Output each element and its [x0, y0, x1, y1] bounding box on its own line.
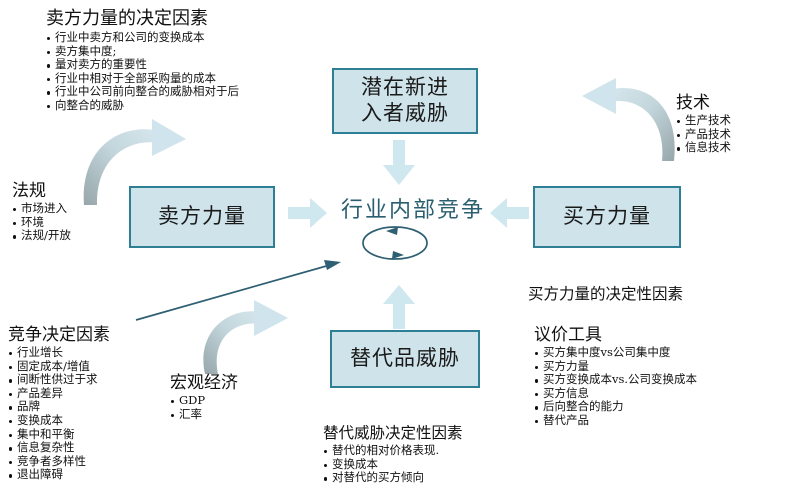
arrow-down-icon [382, 140, 416, 186]
box-threat-of-new-entrants[interactable]: 潜在新进 入者威胁 [332, 68, 478, 134]
list-item: 替代产品 [534, 414, 697, 428]
box-buyer-power-label: 买方力量 [563, 204, 651, 230]
technology-block: 技术 生产技术 产品技术 信息技术 [676, 88, 731, 155]
arrow-up-icon [382, 285, 416, 329]
list-item: 替代的相对价格表现. [323, 444, 463, 458]
list-item: 信息技术 [676, 141, 731, 155]
curved-arrow-icon-macro [203, 300, 288, 374]
regulation-block: 法规 市场进入 环境 法规/开放 [12, 176, 71, 243]
substitute-determinants-heading: 替代威胁决定性因素 [323, 421, 463, 443]
box-threat-of-new-entrants-label: 潜在新进 入者威胁 [361, 75, 449, 126]
list-item: 买方信息 [534, 387, 697, 401]
buyer-determinants-title: 买方力量的决定性因素 [528, 282, 697, 304]
list-item: 卖方集中度; [46, 45, 239, 59]
list-item: 产品技术 [676, 128, 731, 142]
list-item: GDP [170, 394, 238, 408]
list-item: 买方集中度vs公司集中度 [534, 346, 697, 360]
list-item: 行业中相对于全部采购量的成本 [46, 72, 239, 86]
circular-arrow-loop-icon [363, 227, 427, 259]
regulation-heading: 法规 [12, 176, 71, 201]
buyer-determinants-list: 买方集中度vs公司集中度 买方力量 买方变换成本vs.公司变换成本 买方信息 后… [534, 346, 697, 428]
list-item: 量对卖方的重要性 [46, 58, 239, 72]
list-item: 间断性供过于求 [8, 373, 110, 387]
box-supplier-power[interactable]: 卖方力量 [129, 186, 275, 248]
buyer-determinants-heading: 议价工具 [534, 320, 697, 345]
supplier-determinants-block: 卖方力量的决定因素 行业中卖方和公司的变换成本 卖方集中度; 量对卖方的重要性 … [46, 4, 239, 113]
arrow-left-icon [489, 198, 529, 228]
box-threat-of-substitutes[interactable]: 替代品威胁 [330, 330, 480, 388]
list-item: 行业中卖方和公司的变换成本 [46, 31, 239, 45]
macro-economy-block: 宏观经济 GDP 汇率 [170, 368, 238, 421]
list-item: 变换成本 [323, 458, 463, 472]
list-item: 行业中公司前向整合的威胁相对于后 [46, 85, 239, 99]
list-item: 信息复杂性 [8, 441, 110, 455]
supplier-determinants-list: 行业中卖方和公司的变换成本 卖方集中度; 量对卖方的重要性 行业中相对于全部采购… [46, 31, 239, 113]
list-item: 固定成本/增值 [8, 360, 110, 374]
regulation-list: 市场进入 环境 法规/开放 [12, 202, 71, 243]
center-label-industry-rivalry: 行业内部竞争 [333, 192, 493, 224]
supplier-determinants-heading: 卖方力量的决定因素 [46, 4, 239, 30]
arrow-right-icon [288, 198, 328, 228]
technology-heading: 技术 [676, 88, 731, 113]
macro-economy-heading: 宏观经济 [170, 368, 238, 393]
list-item: 后向整合的能力 [534, 400, 697, 414]
list-item: 市场进入 [12, 202, 71, 216]
substitute-determinants-list: 替代的相对价格表现. 变换成本 对替代的买方倾向 [323, 444, 463, 485]
list-item: 生产技术 [676, 114, 731, 128]
box-buyer-power[interactable]: 买方力量 [533, 186, 681, 248]
diagonal-arrow-icon [136, 260, 341, 320]
list-item: 向整合的威胁 [46, 99, 239, 113]
competition-determinants-heading: 竞争决定因素 [8, 320, 110, 345]
list-item: 竞争者多样性 [8, 455, 110, 469]
list-item: 买方力量 [534, 360, 697, 374]
list-item: 品牌 [8, 400, 110, 414]
list-item: 产品差异 [8, 387, 110, 401]
list-item: 对替代的买方倾向 [323, 471, 463, 485]
box-threat-of-substitutes-label: 替代品威胁 [350, 346, 460, 372]
box-supplier-power-label: 卖方力量 [158, 204, 246, 230]
buyer-determinants-block: 买方力量的决定性因素 议价工具 买方集中度vs公司集中度 买方力量 买方变换成本… [528, 282, 697, 428]
competition-determinants-list: 行业增长 固定成本/增值 间断性供过于求 产品差异 品牌 变换成本 集中和平衡 … [8, 346, 110, 482]
list-item: 行业增长 [8, 346, 110, 360]
macro-economy-list: GDP 汇率 [170, 394, 238, 421]
curved-arrow-icon-technology [582, 78, 675, 161]
list-item: 变换成本 [8, 414, 110, 428]
list-item: 买方变换成本vs.公司变换成本 [534, 373, 697, 387]
list-item: 汇率 [170, 408, 238, 422]
competition-determinants-block: 竞争决定因素 行业增长 固定成本/增值 间断性供过于求 产品差异 品牌 变换成本… [8, 320, 110, 482]
technology-list: 生产技术 产品技术 信息技术 [676, 114, 731, 155]
list-item: 集中和平衡 [8, 428, 110, 442]
list-item: 退出障碍 [8, 468, 110, 482]
list-item: 法规/开放 [12, 229, 71, 243]
list-item: 环境 [12, 216, 71, 230]
substitute-determinants-block: 替代威胁决定性因素 替代的相对价格表现. 变换成本 对替代的买方倾向 [323, 421, 463, 485]
